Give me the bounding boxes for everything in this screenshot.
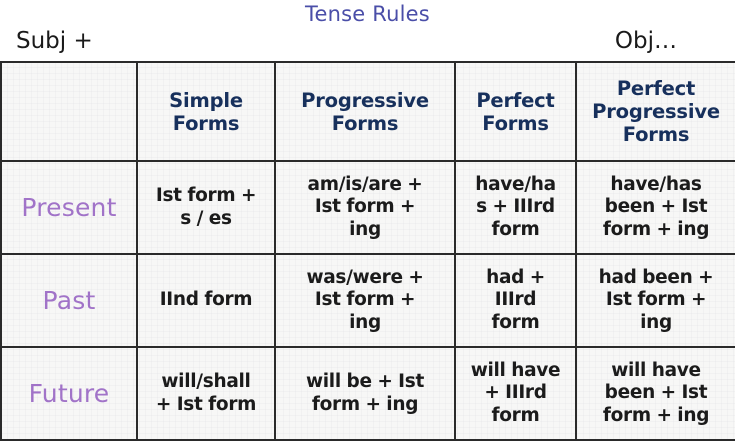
header-corner-cell <box>1 62 137 161</box>
formula-line: form <box>461 312 570 334</box>
tense-rules-table: Simple Forms Progressive Forms Perfect F… <box>0 61 735 441</box>
page-title: Tense Rules <box>0 2 735 26</box>
formula-line: form <box>461 405 570 427</box>
formula-line: s + IIIrd <box>461 196 570 218</box>
formula-line: IIIrd <box>461 289 570 311</box>
formula-line: had been + <box>582 267 730 289</box>
cell-past-progressive: was/were + Ist form + ing <box>275 254 455 347</box>
formula-line: had + <box>461 267 570 289</box>
formula-line: ing <box>582 312 730 334</box>
formula-line: Ist form + <box>281 196 449 218</box>
cell-present-perfect-progressive: have/has been + Ist form + ing <box>576 161 735 254</box>
formula-line: form + ing <box>582 405 730 427</box>
formula-line: form <box>461 219 570 241</box>
cell-present-progressive: am/is/are + Ist form + ing <box>275 161 455 254</box>
subject-caption: Subj + <box>16 28 93 54</box>
formula-line: been + Ist <box>582 382 730 404</box>
cell-past-simple: IInd form <box>137 254 275 347</box>
formula-line: + Ist form <box>143 394 269 416</box>
formula-line: form + ing <box>281 394 449 416</box>
formula-line: am/is/are + <box>281 174 449 196</box>
header-line: Perfect <box>582 77 730 100</box>
formula-line: will have <box>582 360 730 382</box>
cell-past-perfect: had + IIIrd form <box>455 254 576 347</box>
formula-line: Ist form + <box>281 289 449 311</box>
header-perfect-progressive-forms: Perfect Progressive Forms <box>576 62 735 161</box>
header-line: Perfect <box>461 89 570 112</box>
cell-present-perfect: have/ha s + IIIrd form <box>455 161 576 254</box>
tense-label-past: Past <box>1 254 137 347</box>
formula-line: ing <box>281 219 449 241</box>
formula-line: + IIIrd <box>461 382 570 404</box>
header-line: Forms <box>461 112 570 135</box>
header-line: Progressive <box>582 100 730 123</box>
table-row-future: Future will/shall + Ist form will be + I… <box>1 347 735 440</box>
formula-line: ing <box>281 312 449 334</box>
formula-line: s / es <box>143 208 269 230</box>
cell-present-simple: Ist form + s / es <box>137 161 275 254</box>
header-line: Progressive <box>281 89 449 112</box>
table-header-row: Simple Forms Progressive Forms Perfect F… <box>1 62 735 161</box>
tense-label-present: Present <box>1 161 137 254</box>
formula-line: been + Ist <box>582 196 730 218</box>
header-simple-forms: Simple Forms <box>137 62 275 161</box>
cell-future-progressive: will be + Ist form + ing <box>275 347 455 440</box>
caption-row: Subj + Obj… <box>0 28 735 60</box>
formula-line: will/shall <box>143 371 269 393</box>
tense-label-future: Future <box>1 347 137 440</box>
formula-line: IInd form <box>143 289 269 311</box>
formula-line: have/has <box>582 174 730 196</box>
formula-line: form + ing <box>582 219 730 241</box>
formula-line: will have <box>461 360 570 382</box>
header-perfect-forms: Perfect Forms <box>455 62 576 161</box>
cell-future-perfect: will have + IIIrd form <box>455 347 576 440</box>
tense-rules-chart: Tense Rules Subj + Obj… Simple Forms Pro… <box>0 0 735 439</box>
header-line: Simple <box>143 89 269 112</box>
formula-line: was/were + <box>281 267 449 289</box>
formula-line: will be + Ist <box>281 371 449 393</box>
table-row-present: Present Ist form + s / es am/is/are + Is… <box>1 161 735 254</box>
formula-line: have/ha <box>461 174 570 196</box>
header-line: Forms <box>281 112 449 135</box>
object-caption: Obj… <box>615 28 677 54</box>
cell-future-perfect-progressive: will have been + Ist form + ing <box>576 347 735 440</box>
table-row-past: Past IInd form was/were + Ist form + ing… <box>1 254 735 347</box>
header-line: Forms <box>582 123 730 146</box>
formula-line: Ist form + <box>582 289 730 311</box>
header-progressive-forms: Progressive Forms <box>275 62 455 161</box>
header-line: Forms <box>143 112 269 135</box>
formula-line: Ist form + <box>143 185 269 207</box>
cell-past-perfect-progressive: had been + Ist form + ing <box>576 254 735 347</box>
cell-future-simple: will/shall + Ist form <box>137 347 275 440</box>
